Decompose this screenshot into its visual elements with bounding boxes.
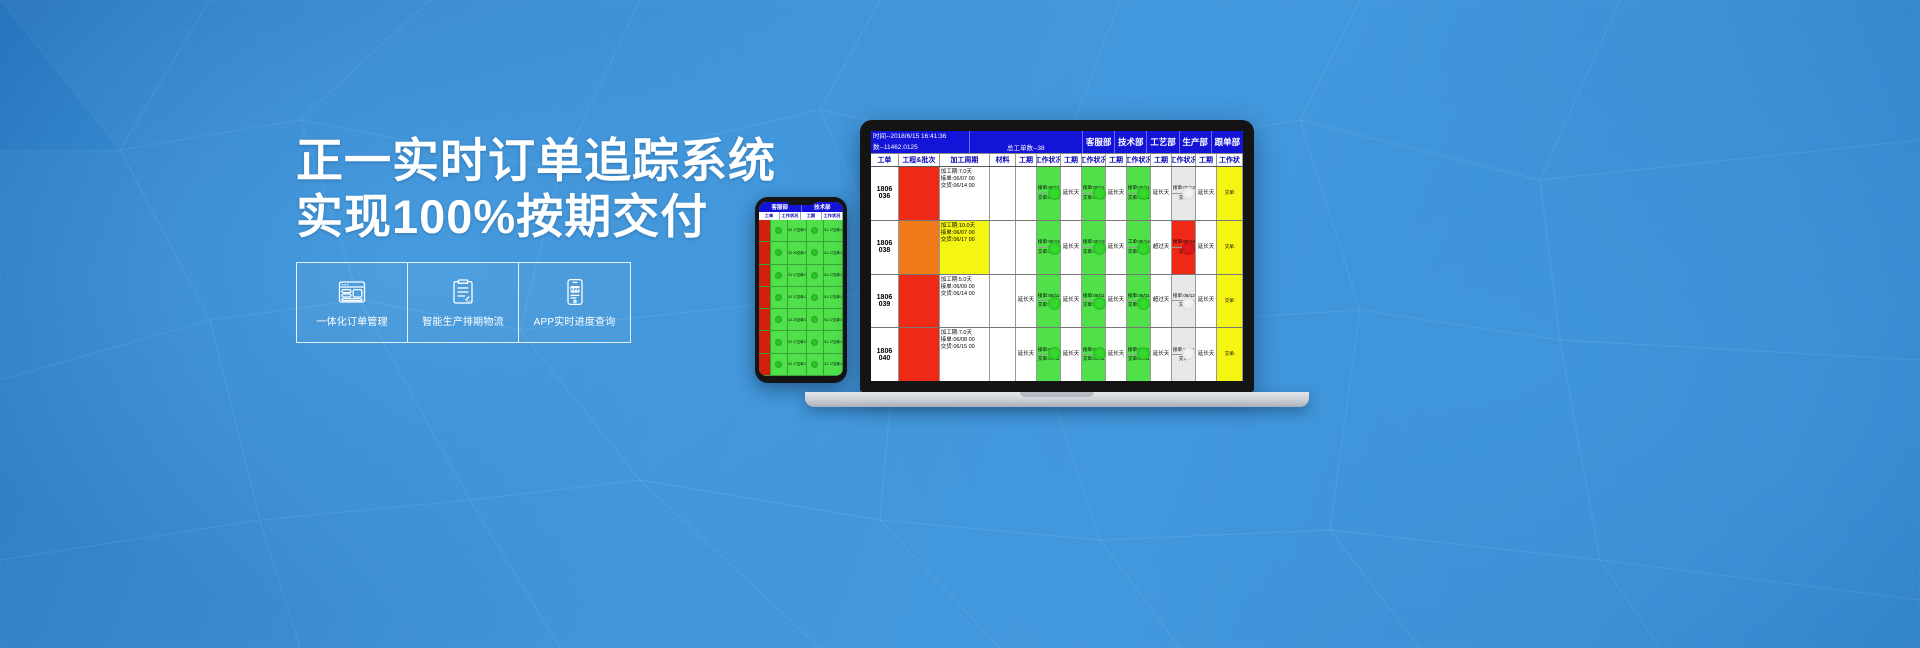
order-number-cell: 1806 040 [871, 328, 899, 381]
status-cell: 接单:06/11 17 交单:06/12 09 [1127, 275, 1151, 328]
phone-status-dot-cell [807, 331, 824, 352]
cycle-cell: 加工期:7.0天 接单:06/08 00 交货:06/15 00 [940, 328, 990, 381]
phone-status-dot-cell [807, 242, 824, 263]
cycle-cell: 加工期:5.0天 接单:06/09 00 交货:06/14 00 [940, 275, 990, 328]
material-cell [990, 221, 1016, 274]
table-row[interactable]: 1806 039 加工期:5.0天 接单:06/09 00 交货:06/14 0… [871, 275, 1243, 329]
column-status-cs: 工作状况 [1037, 154, 1061, 166]
status-stack: 工单:06/14 04 交单:06/14 14 [1127, 221, 1150, 274]
status-cell: 交单: [1217, 328, 1243, 381]
app-badge-text: APP [570, 287, 579, 292]
phone-table-row[interactable]: 接单:06/11 17交单:06/11 17 接单:06/11 17交单:06/… [759, 287, 843, 309]
phone-note-cell: 接单:06/11 17交单:06/11 17 [824, 331, 843, 352]
column-period-cs: 工期 [1016, 154, 1037, 166]
status-stack: 接单:06/11 17 交单:06/12 09 [1127, 275, 1150, 328]
column-period-merch: 工期 [1196, 154, 1217, 166]
period-cell: 超过天 [1151, 221, 1172, 274]
status-stack: 接单:06/11 17 交单: [1172, 328, 1195, 381]
status-cell: 接单:06/12 09 交单: [1172, 275, 1196, 328]
headline-line-2: 实现100%按期交付 [296, 189, 716, 245]
period-cell [1016, 167, 1037, 220]
status-dot-green [811, 361, 818, 368]
phone-note-cell: 接单:06/11 17交单:06/11 17 [824, 309, 843, 330]
status-cell: 接单:06/11 17 交单:06/11 17 [1127, 167, 1151, 220]
column-status-proc: 工作状况 [1127, 154, 1151, 166]
status-stack: 接单:06/13 17 交单: [1172, 167, 1195, 220]
feature-box-group: 一体化订单管理 智能生产排期物流 APP [296, 262, 631, 343]
status-dot-green [811, 227, 818, 234]
dashboard-counter: 数--11462.0125 [871, 142, 969, 153]
period-cell: 延长天 [1151, 328, 1172, 381]
column-header-row: 工单 工程&批次 加工周期 材料 工期 工作状况 工期 工作状况 工期 工作状况… [871, 153, 1243, 167]
headline-line-1: 正一实时订单追踪系统 [296, 133, 716, 189]
status-stack: 接单:06/11 17 交单:06/11 17 [1037, 167, 1060, 220]
status-stack: 接单:06/11 17 交单:06/11 17 [1082, 167, 1105, 220]
period-cell: 延长天 [1151, 167, 1172, 220]
period-cell: 延长天 [1061, 167, 1082, 220]
mobile-app-icon: APP [565, 278, 585, 306]
status-dot-green [775, 249, 782, 256]
period-cell: 延长天 [1106, 167, 1127, 220]
dashboard-layout-icon [337, 278, 367, 306]
department-customer-service[interactable]: 客服部 [1083, 131, 1115, 153]
period-cell: 延长天 [1016, 328, 1037, 381]
period-cell: 延长天 [1016, 275, 1037, 328]
phone-status-dot-cell [771, 220, 788, 241]
dashboard-timestamp: 时间--2018/6/15 16:41:36 [871, 131, 969, 142]
table-row[interactable]: 1806 040 加工期:7.0天 接单:06/08 00 交货:06/15 0… [871, 328, 1243, 381]
status-dot-green [811, 316, 818, 323]
status-cell: 接单:06/11 17 交单:06/11 17 [1037, 328, 1061, 381]
phone-body: 客服部 技术部 工单 工作状况 工期 工作状况 接单:06/11 17交单:0 [755, 197, 847, 383]
phone-status-dot-cell [807, 265, 824, 286]
phone-note-cell: 接单:06/11 17交单:06/11 17 [788, 220, 807, 241]
feature-item-production-scheduling[interactable]: 智能生产排期物流 [408, 263, 519, 342]
phone-note-cell: 接单:06/11 17交单:06/11 17 [824, 265, 843, 286]
status-dot-green [811, 249, 818, 256]
phone-status-dot-cell [771, 331, 788, 352]
phone-table-row[interactable]: 接单:06/11 17交单:06/11 17 接单:06/11 17交单:06/… [759, 354, 843, 376]
phone-row-marker [759, 287, 771, 308]
status-cell: 接单:06/14 14 交单: [1172, 221, 1196, 274]
column-project-batch: 工程&批次 [899, 154, 940, 166]
phone-note-cell: 接单:06/11 17交单:06/11 17 [788, 354, 807, 375]
status-stack: 接单:06/11 17 交单:06/11 17 [1082, 275, 1105, 328]
feature-label: APP实时进度查询 [534, 313, 616, 328]
feature-item-order-management[interactable]: 一体化订单管理 [297, 263, 408, 342]
phone-status-dot-cell [807, 220, 824, 241]
phone-status-dot-cell [807, 309, 824, 330]
phone-note-cell: 接单:06/11 17交单:06/11 17 [824, 242, 843, 263]
phone-status-dot-cell [771, 265, 788, 286]
status-stack: 接单:06/14 14 交单: [1172, 221, 1195, 274]
laptop-lid: 时间--2018/6/15 16:41:36 数--11462.0125 总工单… [860, 120, 1254, 392]
status-stack: 接单:06/11 17 交单:06/11 17 [1127, 167, 1150, 220]
phone-row-marker [759, 309, 771, 330]
status-cell: 接单:06/12 20 交单:06/14 14 [1037, 221, 1061, 274]
period-cell: 延长天 [1061, 328, 1082, 381]
column-status-merch: 工作状 [1217, 154, 1243, 166]
phone-row-marker [759, 331, 771, 352]
phone-status-dot-cell [771, 287, 788, 308]
phone-column: 工作状况 [822, 212, 843, 220]
phone-table-body: 接单:06/11 17交单:06/11 17 接单:06/11 17交单:06/… [759, 220, 843, 376]
phone-note-cell: 接单:06/12 20交单:06/14 14 [788, 242, 807, 263]
department-process[interactable]: 工艺部 [1147, 131, 1179, 153]
column-order-no: 工单 [871, 154, 899, 166]
phone-row-marker [759, 242, 771, 263]
phone-note-cell: 接单:06/11 17交单:06/11 17 [824, 287, 843, 308]
phone-column-header: 工单 工作状况 工期 工作状况 [759, 212, 843, 220]
phone-notch [786, 200, 816, 205]
status-dot-green [811, 339, 818, 346]
order-tracking-dashboard: 时间--2018/6/15 16:41:36 数--11462.0125 总工单… [871, 131, 1243, 381]
department-production[interactable]: 生产部 [1180, 131, 1212, 153]
status-stack: 接单:06/12 20 交单:06/14 14 [1037, 221, 1060, 274]
column-period-prod: 工期 [1151, 154, 1172, 166]
phone-status-dot-cell [807, 287, 824, 308]
phone-status-dot-cell [807, 354, 824, 375]
status-dot-green [775, 316, 782, 323]
phone-table-row[interactable]: 接单:06/11 17交单:06/12 09 接单:06/11 17交单:06/… [759, 331, 843, 353]
laptop-screen[interactable]: 时间--2018/6/15 16:41:36 数--11462.0125 总工单… [871, 131, 1243, 381]
table-row[interactable]: 1806 038 加工期:10.0天 接单:06/07 00 交货:06/17 … [871, 221, 1243, 275]
period-cell: 超过天 [1151, 275, 1172, 328]
phone-note-cell: 接单:06/11 17交单:06/11 17 [788, 287, 807, 308]
status-stack: 交单: [1217, 275, 1242, 328]
cycle-cell: 加工期:7.0天 接单:06/07 00 交货:06/14 00 [940, 167, 990, 220]
laptop-base [805, 392, 1309, 407]
column-period-proc: 工期 [1106, 154, 1127, 166]
status-cell: 交单: [1217, 221, 1243, 274]
column-material: 材料 [990, 154, 1016, 166]
dashboard-table-body: 1806 036 加工期:7.0天 接单:06/07 00 交货:06/14 0… [871, 167, 1243, 381]
phone-screen[interactable]: 客服部 技术部 工单 工作状况 工期 工作状况 接单:06/11 17交单:0 [759, 202, 843, 376]
status-cell: 接单:06/11 17 交单:06/11 17 [1082, 275, 1106, 328]
column-period-tech: 工期 [1061, 154, 1082, 166]
status-cell: 交单: [1217, 275, 1243, 328]
period-cell: 延长天 [1196, 221, 1217, 274]
phone-note-cell: 接单:06/11 17交单:06/11 17 [824, 220, 843, 241]
department-merchandising[interactable]: 跟单部 [1212, 131, 1243, 153]
period-cell: 延长天 [1061, 221, 1082, 274]
status-cell: 交单: [1217, 167, 1243, 220]
status-stack: 接单:06/11 17 交单:06/11 17 [1037, 275, 1060, 328]
table-row[interactable]: 1806 036 加工期:7.0天 接单:06/07 00 交货:06/14 0… [871, 167, 1243, 221]
phone-mockup: 客服部 技术部 工单 工作状况 工期 工作状况 接单:06/11 17交单:0 [755, 197, 847, 383]
project-batch-bar [899, 275, 940, 328]
phone-note-cell: 接单:06/11 17交单:06/12 09 [788, 331, 807, 352]
phone-table-row[interactable]: 接单:06/12 20交单:06/14 14 接单:06/11 17交单:06/… [759, 309, 843, 331]
clipboard-schedule-icon [450, 278, 476, 306]
status-dot-green [775, 294, 782, 301]
status-cell: 接单:06/13 17 交单: [1172, 167, 1196, 220]
phone-table-row[interactable]: 接单:06/11 17交单:06/12 09 接单:06/11 17交单:06/… [759, 265, 843, 287]
period-cell: 延长天 [1106, 221, 1127, 274]
status-cell: 接单:06/11 17 交单: [1172, 328, 1196, 381]
device-mockup-group: 客服部 技术部 工单 工作状况 工期 工作状况 接单:06/11 17交单:0 [740, 108, 1360, 438]
project-batch-bar [899, 221, 940, 274]
column-status-prod: 工作状况 [1172, 154, 1196, 166]
cycle-cell: 加工期:10.0天 接单:06/07 00 交货:06/17 00 [940, 221, 990, 274]
phone-status-dot-cell [771, 242, 788, 263]
phone-row-marker [759, 354, 771, 375]
period-cell: 延长天 [1196, 167, 1217, 220]
material-cell [990, 275, 1016, 328]
project-batch-bar [899, 328, 940, 381]
status-stack: 交单: [1217, 221, 1242, 274]
phone-column: 工单 [759, 212, 780, 220]
material-cell [990, 328, 1016, 381]
status-stack: 接单:06/14 14 交单:06/14 14 [1082, 221, 1105, 274]
phone-note-cell: 接单:06/12 20交单:06/14 14 [788, 309, 807, 330]
status-dot-green [775, 227, 782, 234]
status-dot-green [775, 339, 782, 346]
status-dot-green [775, 361, 782, 368]
period-cell: 延长天 [1106, 328, 1127, 381]
phone-table-row[interactable]: 接单:06/12 20交单:06/14 14 接单:06/11 17交单:06/… [759, 242, 843, 264]
laptop-mockup: 时间--2018/6/15 16:41:36 数--11462.0125 总工单… [860, 120, 1309, 407]
status-stack: 接单:06/11 17 交单:06/11 17 [1037, 328, 1060, 381]
column-cycle: 加工周期 [940, 154, 990, 166]
department-technical[interactable]: 技术部 [1115, 131, 1147, 153]
phone-status-dot-cell [771, 354, 788, 375]
phone-row-marker [759, 220, 771, 241]
phone-column: 工期 [801, 212, 822, 220]
status-cell: 接单:06/11 17 交单:06/11 17 [1127, 328, 1151, 381]
feature-item-app-progress-query[interactable]: APP APP实时进度查询 [519, 263, 630, 342]
status-cell: 接单:06/11 17 交单:06/11 17 [1037, 275, 1061, 328]
period-cell: 延长天 [1196, 275, 1217, 328]
status-stack: 交单: [1217, 328, 1242, 381]
phone-note-cell: 接单:06/11 17交单:06/11 17 [824, 354, 843, 375]
period-cell: 延长天 [1106, 275, 1127, 328]
status-stack: 接单:06/12 09 交单: [1172, 275, 1195, 328]
status-stack: 接单:06/11 17 交单:06/11 17 [1082, 328, 1105, 381]
phone-dashboard: 客服部 技术部 工单 工作状况 工期 工作状况 接单:06/11 17交单:0 [759, 202, 843, 376]
phone-status-dot-cell [771, 309, 788, 330]
period-cell [1016, 221, 1037, 274]
status-dot-green [775, 272, 782, 279]
feature-label: 智能生产排期物流 [422, 313, 504, 328]
status-cell: 接单:06/11 17 交单:06/11 17 [1082, 328, 1106, 381]
period-cell: 延长天 [1061, 275, 1082, 328]
phone-column: 工作状况 [780, 212, 801, 220]
dashboard-title-bar: 时间--2018/6/15 16:41:36 数--11462.0125 总工单… [871, 131, 1243, 153]
period-cell: 延长天 [1196, 328, 1217, 381]
phone-row-marker [759, 265, 771, 286]
project-batch-bar [899, 167, 940, 220]
department-header-row: 客服部 技术部 工艺部 生产部 跟单部 [1083, 131, 1243, 153]
column-status-tech: 工作状况 [1082, 154, 1106, 166]
status-stack: 交单: [1217, 167, 1242, 220]
status-cell: 接单:06/14 14 交单:06/14 14 [1082, 221, 1106, 274]
hero-copy: 正一实时订单追踪系统 实现100%按期交付 [296, 133, 716, 246]
dashboard-total-orders: 总工单数--38 [970, 131, 1083, 153]
order-number-cell: 1806 038 [871, 221, 899, 274]
status-dot-green [811, 294, 818, 301]
status-dot-green [811, 272, 818, 279]
phone-note-cell: 接单:06/11 17交单:06/12 09 [788, 265, 807, 286]
material-cell [990, 167, 1016, 220]
order-number-cell: 1806 036 [871, 167, 899, 220]
status-stack: 接单:06/11 17 交单:06/11 17 [1127, 328, 1150, 381]
status-cell: 接单:06/11 17 交单:06/11 17 [1037, 167, 1061, 220]
order-number-cell: 1806 039 [871, 275, 899, 328]
phone-table-row[interactable]: 接单:06/11 17交单:06/11 17 接单:06/11 17交单:06/… [759, 220, 843, 242]
feature-label: 一体化订单管理 [316, 313, 387, 328]
status-cell: 工单:06/14 04 交单:06/14 14 [1127, 221, 1151, 274]
status-cell: 接单:06/11 17 交单:06/11 17 [1082, 167, 1106, 220]
dashboard-title-left: 时间--2018/6/15 16:41:36 数--11462.0125 [871, 131, 970, 153]
